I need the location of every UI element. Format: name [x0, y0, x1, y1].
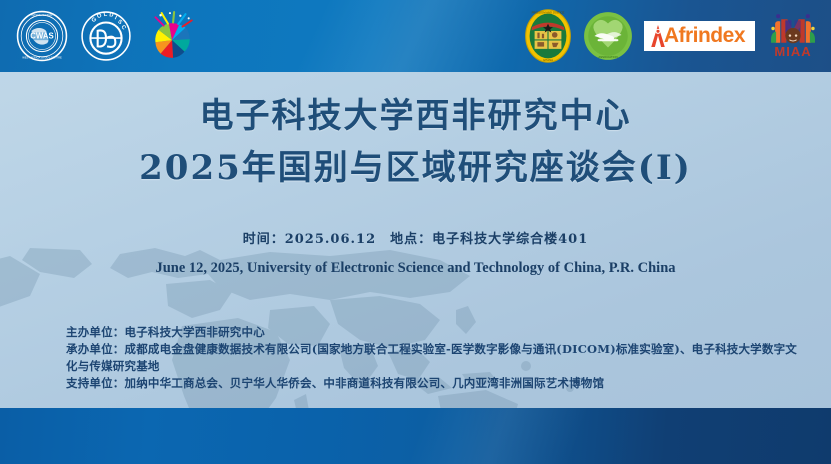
- header-bar: CWAS INTERNATIONAL WEST AFRICA STUDY CEN…: [0, 0, 831, 72]
- svg-text:GHANA: GHANA: [543, 58, 553, 62]
- miaa-wordmark: MIAA: [774, 45, 811, 59]
- svg-text:WEST AFRICA STUDY CENTRE: WEST AFRICA STUDY CENTRE: [22, 55, 62, 59]
- organizer-line-supporters: 支持单位：加纳中华工商总会、贝宁华人华侨会、中非商道科技有限公司、几内亚湾非洲国…: [66, 375, 806, 392]
- svg-text:S: S: [116, 19, 123, 26]
- colorful-fan-logo: [144, 10, 198, 62]
- page-title-line-1: 电子科技大学西非研究中心: [0, 94, 831, 138]
- poster-body: 电子科技大学西非研究中心 2025年国别与区域研究座谈会(Ⅰ) 时间：2025.…: [0, 72, 831, 408]
- cwas-logo: CWAS INTERNATIONAL WEST AFRICA STUDY CEN…: [16, 10, 68, 62]
- organizer-line-host: 主办单位：电子科技大学西非研究中心: [66, 324, 806, 341]
- organizers-block: 主办单位：电子科技大学西非研究中心 承办单位：成都成电金盘健康数据技术有限公司(…: [66, 324, 806, 392]
- event-meta-chinese: 时间：2025.06.12 地点：电子科技大学综合楼401: [0, 230, 831, 250]
- miaa-mark-icon: [770, 13, 816, 45]
- miaa-logo: MIAA: [765, 13, 821, 59]
- svg-text:D: D: [109, 12, 114, 19]
- right-logo-group: FREEDOM AND JUSTICE GHANA ASSOCIATION: [524, 0, 821, 72]
- goldisc-logo: G O L D I S C: [80, 10, 132, 62]
- green-handshake-heart-logo: ASSOCIATION: [582, 10, 634, 62]
- conference-poster: CWAS INTERNATIONAL WEST AFRICA STUDY CEN…: [0, 0, 831, 464]
- svg-text:CWAS: CWAS: [30, 32, 53, 41]
- svg-text:INTERNATIONAL: INTERNATIONAL: [31, 13, 53, 17]
- event-meta-block: 时间：2025.06.12 地点：电子科技大学综合楼401 June 12, 2…: [0, 230, 831, 279]
- event-meta-english: June 12, 2025, University of Electronic …: [0, 257, 831, 279]
- afrindex-wordmark: Afrindex: [664, 24, 745, 48]
- title-block: 电子科技大学西非研究中心 2025年国别与区域研究座谈会(Ⅰ): [0, 94, 831, 192]
- left-logo-group: CWAS INTERNATIONAL WEST AFRICA STUDY CEN…: [16, 0, 198, 72]
- footer-bar: [0, 408, 831, 464]
- svg-text:FREEDOM AND JUSTICE: FREEDOM AND JUSTICE: [531, 11, 564, 15]
- svg-text:I: I: [113, 15, 117, 21]
- afrindex-logo: Afrindex: [644, 21, 755, 51]
- ghana-coat-of-arms-logo: FREEDOM AND JUSTICE GHANA: [524, 8, 572, 64]
- organizer-line-coorganizer: 承办单位：成都成电金盘健康数据技术有限公司(国家地方联合工程实验室-医学数字影像…: [66, 341, 806, 375]
- svg-text:ASSOCIATION: ASSOCIATION: [598, 55, 617, 59]
- page-title-line-2: 2025年国别与区域研究座谈会(Ⅰ): [0, 144, 831, 192]
